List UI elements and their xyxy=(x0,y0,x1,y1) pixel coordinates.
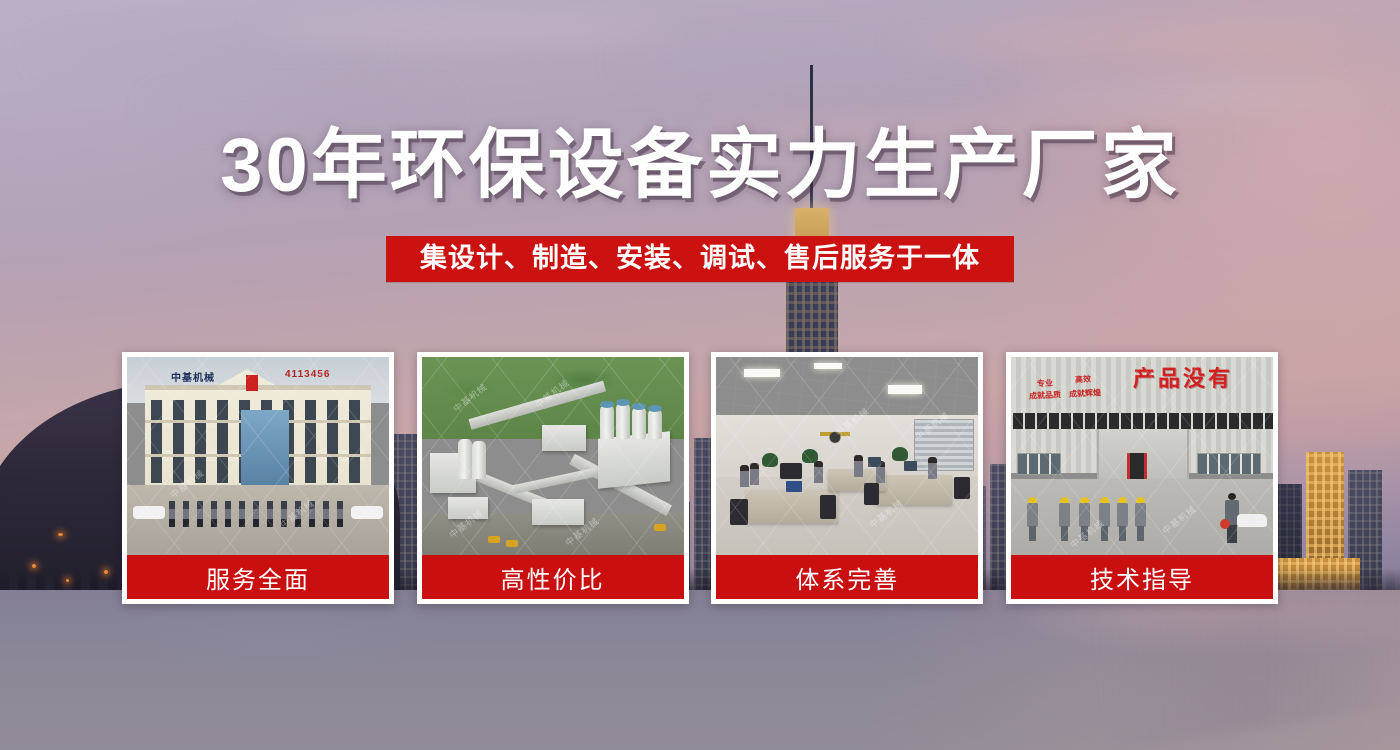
office-interior-photo: 中基机械 中基机械 中基机械 xyxy=(716,357,978,555)
feature-card-service[interactable]: 中基机械 4113456 中基机械 中基机械 xyxy=(122,352,394,604)
feature-card-caption: 技术指导 xyxy=(1011,555,1273,599)
feature-card-row: 中基机械 4113456 中基机械 中基机械 xyxy=(122,352,1278,604)
feature-card-guidance[interactable]: 产品没有 专业 成就品质 高效 成就辉煌 中基机械 xyxy=(1006,352,1278,604)
feature-card-value[interactable]: 中基机械 中基机械 中基机械 中基机械 高性价比 xyxy=(417,352,689,604)
building-sign-text: 中基机械 xyxy=(171,369,215,384)
feature-card-caption: 高性价比 xyxy=(422,555,684,599)
building-phone-text: 4113456 xyxy=(285,369,330,380)
factory-slogan-3: 高效 xyxy=(1075,375,1091,385)
feature-card-caption: 服务全面 xyxy=(127,555,389,599)
factory-slogan-1: 专业 xyxy=(1037,379,1053,389)
factory-slogan-2: 成就品质 xyxy=(1029,390,1061,401)
feature-card-system[interactable]: 中基机械 中基机械 中基机械 体系完善 xyxy=(711,352,983,604)
hero-banner: 30年环保设备实力生产厂家 集设计、制造、安装、调试、售后服务于一体 中基机械 … xyxy=(0,0,1400,750)
company-headquarters-photo: 中基机械 4113456 中基机械 中基机械 xyxy=(127,357,389,555)
factory-wall-sign: 产品没有 xyxy=(1133,361,1233,393)
factory-slogan-4: 成就辉煌 xyxy=(1069,388,1101,399)
aerial-plant-photo: 中基机械 中基机械 中基机械 中基机械 xyxy=(422,357,684,555)
feature-card-caption: 体系完善 xyxy=(716,555,978,599)
workers-training-photo: 产品没有 专业 成就品质 高效 成就辉煌 中基机械 xyxy=(1011,357,1273,555)
subtitle-text: 集设计、制造、安装、调试、售后服务于一体 xyxy=(386,236,1014,282)
page-title: 30年环保设备实力生产厂家 xyxy=(0,128,1400,204)
subtitle-banner: 集设计、制造、安装、调试、售后服务于一体 xyxy=(0,236,1400,282)
river-water xyxy=(0,590,1400,750)
